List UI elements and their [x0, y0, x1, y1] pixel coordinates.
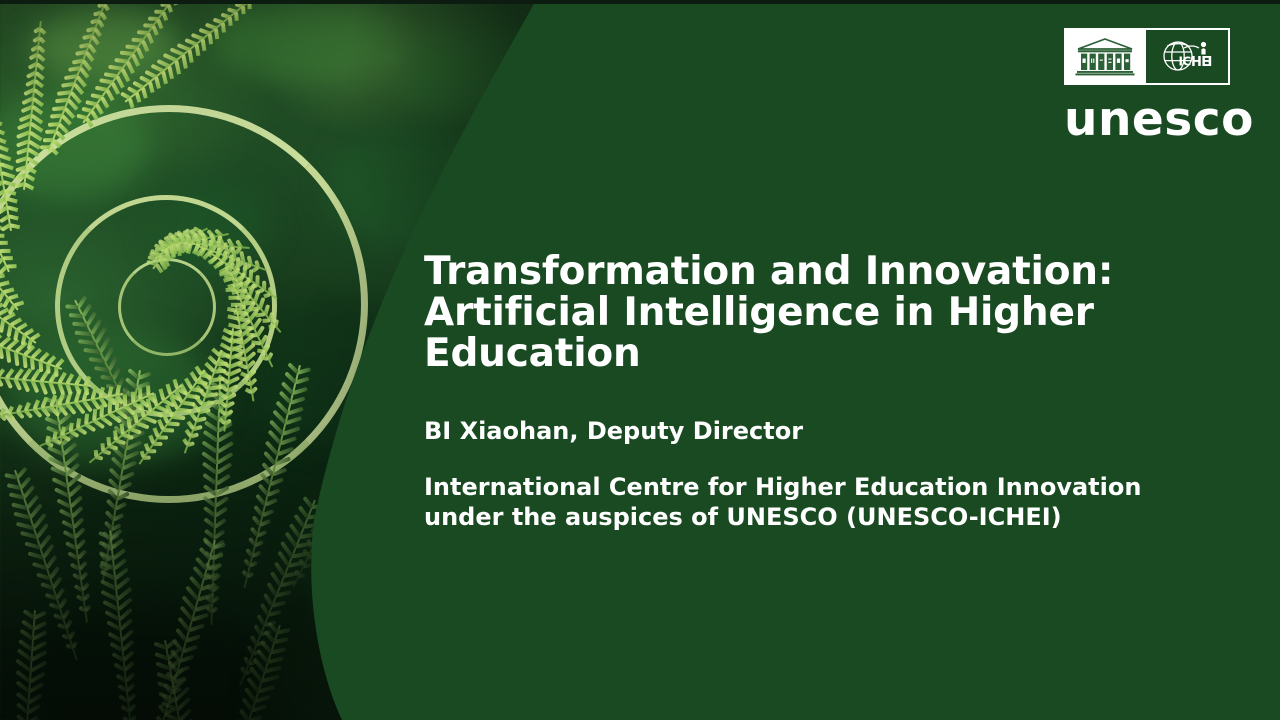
svg-text:IC: IC [1179, 54, 1192, 68]
title-line-2: Artificial Intelligence in Higher Educat… [424, 293, 1244, 375]
logo-emblem-row: IC HE I [1064, 28, 1230, 85]
title-line-1: Transformation and Innovation: [424, 252, 1244, 293]
unesco-temple-emblem [1064, 28, 1146, 85]
affiliation-line-2: under the auspices of UNESCO (UNESCO-ICH… [424, 502, 1214, 533]
presenter-name: BI Xiaohan, Deputy Director [424, 418, 1214, 446]
affiliation-line-1: International Centre for Higher Educatio… [424, 472, 1214, 503]
top-edge-strip [0, 0, 1280, 4]
unesco-ichei-logo: IC HE I unesco [1064, 28, 1230, 143]
page-title: Transformation and Innovation: Artificia… [424, 252, 1244, 375]
presenter-block: BI Xiaohan, Deputy Director Internationa… [424, 418, 1214, 533]
ichei-globe-emblem: IC HE I [1146, 28, 1230, 85]
presenter-affiliation: International Centre for Higher Educatio… [424, 472, 1214, 533]
unesco-wordmark: unesco [1064, 96, 1230, 143]
svg-text:I: I [1208, 55, 1213, 70]
presentation-title-slide: IC HE I unesco Transformation and Innova… [0, 0, 1280, 720]
